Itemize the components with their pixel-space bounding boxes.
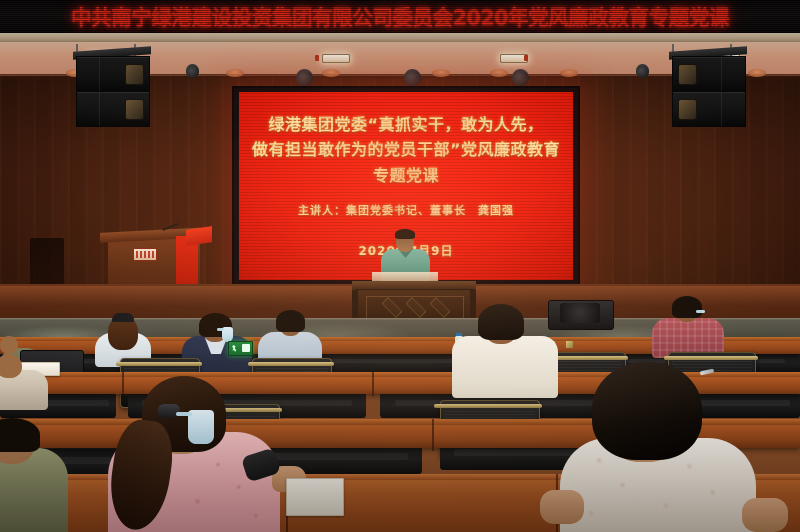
speaker-cabinet [672,91,746,127]
audience-person-hair [478,304,524,340]
audience-person-hair [276,310,305,332]
dome-camera [296,69,313,86]
ceiling-downlight [322,69,340,77]
lectern-nameplate [133,248,157,261]
audience-person-cap [112,313,134,322]
audience-person-torso [452,336,558,398]
speaker-cabinet [76,56,150,92]
emergency-exit-sign [228,341,253,356]
face-mask-strap [176,412,192,416]
dome-camera [186,64,199,78]
dome-camera [636,64,649,78]
face-mask-strap [217,328,224,331]
banner-base-trim [0,33,800,42]
ceiling-downlight [748,69,766,77]
speaker-cabinet [76,91,150,127]
line-array-speaker-right [672,56,744,128]
screen-title-line-3: 专题党课 [239,162,573,186]
audience-person-face-mask [188,410,214,444]
audience-person-head [0,354,22,378]
presenter-hair [395,229,415,239]
audience-person-hair [592,362,702,460]
dome-camera [404,69,421,86]
face-mask-strap [696,310,705,313]
led-banner: 中共南宁绿港建设投资集团有限公司委员会2020年党风廉政教育专题党课 [0,0,800,34]
ceiling-sensor [524,55,528,61]
monitor-grille [560,303,600,323]
screen-title-line-1: 绿港集团党委“真抓实干，敢为人先， [239,111,573,135]
presenter-desk-placard [372,272,438,281]
speaker-cabinet [672,56,746,92]
speaker-horn [678,64,697,85]
ceiling-sensor [315,55,319,61]
speaker-seam [721,92,722,126]
exit-door-icon [242,344,250,352]
conference-room-photo: 中共南宁绿港建设投资集团有限公司委员会2020年党风廉政教育专题党课 绿港集团党… [0,0,800,532]
chair-arm [664,356,758,360]
audience-person-hand [540,490,584,524]
speaker-seam [99,92,100,126]
audience-person-hair [672,296,702,318]
screen-title-line-2: 做有担当敢作为的党员干部”党风廉政教育 [239,136,573,160]
speaker-seam [721,57,722,91]
notebook [286,478,344,516]
line-array-speaker-left [76,56,148,128]
recessed-light [322,54,350,63]
ceiling-downlight [432,69,450,77]
speaker-horn [678,99,697,120]
speaker-seam [99,57,100,91]
ceiling-downlight [490,69,508,77]
audience-person-hand [742,498,788,532]
chair-arm [116,362,202,366]
desk-seam [372,372,374,396]
exit-runner-icon [232,345,237,352]
screen-speaker-line: 主讲人：集团党委书记、董事长 龚国强 [239,202,573,218]
audience-person-head [0,336,18,354]
dome-camera [512,69,529,86]
desk-marker-b [566,341,573,348]
ceiling-downlight [226,69,244,77]
chair-arm [248,362,334,366]
desk-seam [432,419,434,451]
led-banner-text: 中共南宁绿港建设投资集团有限公司委员会2020年党风廉政教育专题党课 [8,2,792,32]
desk-seam [122,372,124,396]
chair-arm [434,404,542,408]
speaker-horn [125,99,144,120]
ceiling-downlight [560,69,578,77]
speaker-horn [125,64,144,85]
